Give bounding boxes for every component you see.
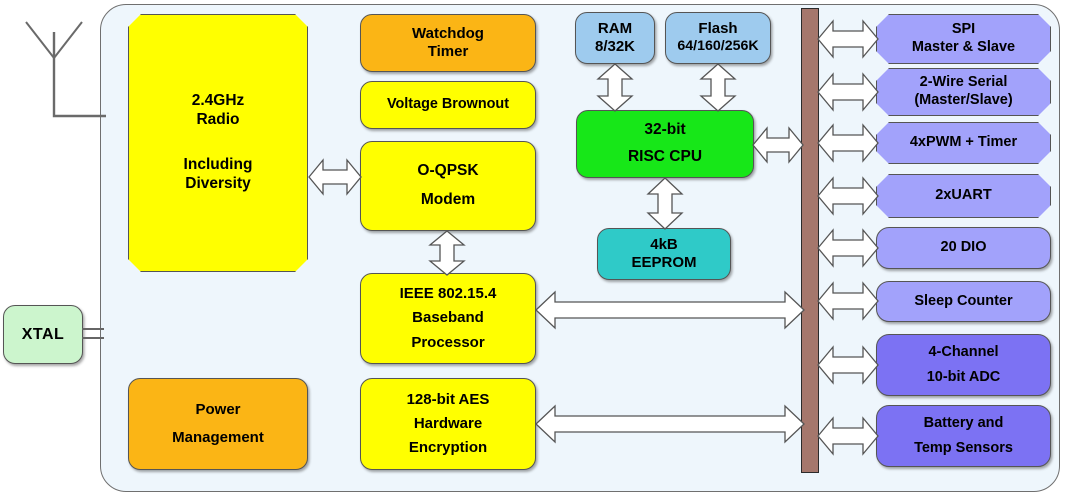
arrow-flash-to-cpu xyxy=(696,63,740,112)
arrow-bus-to-sleep-counter xyxy=(817,280,879,322)
two-wire-serial-block[interactable]: 2-Wire Serial (Master/Slave) xyxy=(876,68,1051,116)
uart-block[interactable]: 2xUART xyxy=(876,174,1051,218)
arrow-bus-to-spi xyxy=(817,18,879,60)
arrow-bus-to-dio xyxy=(817,227,879,269)
block-diagram-canvas: XTAL 2.4GHz Radio Including Diversity Wa… xyxy=(0,0,1080,499)
flash-block[interactable]: Flash 64/160/256K xyxy=(665,12,771,64)
watchdog-timer-block[interactable]: Watchdog Timer xyxy=(360,14,536,72)
xtal-connector-line-upper xyxy=(82,328,104,330)
arrow-bus-to-uart xyxy=(817,175,879,217)
dio-block[interactable]: 20 DIO xyxy=(876,227,1051,269)
power-management-block[interactable]: Power Management xyxy=(128,378,308,470)
radio-block[interactable]: 2.4GHz Radio Including Diversity xyxy=(128,14,308,272)
arrow-bus-to-adc xyxy=(817,344,879,386)
adc-block[interactable]: 4-Channel 10-bit ADC xyxy=(876,334,1051,396)
antenna-icon xyxy=(14,14,106,124)
o-qpsk-modem-block[interactable]: O-QPSK Modem xyxy=(360,141,536,231)
spi-block[interactable]: SPI Master & Slave xyxy=(876,14,1051,64)
arrow-baseband-to-bus xyxy=(535,288,805,332)
pwm-timer-block[interactable]: 4xPWM + Timer xyxy=(876,122,1051,164)
battery-temp-sensors-block[interactable]: Battery and Temp Sensors xyxy=(876,405,1051,467)
voltage-brownout-block[interactable]: Voltage Brownout xyxy=(360,81,536,129)
arrow-modem-to-baseband xyxy=(425,230,469,276)
xtal-connector-line-lower xyxy=(82,337,104,339)
arrow-cpu-to-eeprom xyxy=(643,177,687,230)
arrow-ram-to-cpu xyxy=(593,63,637,112)
xtal-block[interactable]: XTAL xyxy=(3,305,83,364)
arrow-bus-to-pwm-timer xyxy=(817,122,879,164)
arrow-cpu-to-bus xyxy=(752,124,804,166)
sleep-counter-block[interactable]: Sleep Counter xyxy=(876,281,1051,322)
arrow-radio-to-modem xyxy=(308,155,362,199)
baseband-processor-block[interactable]: IEEE 802.15.4 Baseband Processor xyxy=(360,273,536,364)
ram-block[interactable]: RAM 8/32K xyxy=(575,12,655,64)
eeprom-block[interactable]: 4kB EEPROM xyxy=(597,228,731,280)
risc-cpu-block[interactable]: 32-bit RISC CPU xyxy=(576,110,754,178)
arrow-aes-to-bus xyxy=(535,402,805,446)
arrow-bus-to-two-wire xyxy=(817,71,879,113)
arrow-bus-to-sensors xyxy=(817,415,879,457)
aes-encryption-block[interactable]: 128-bit AES Hardware Encryption xyxy=(360,378,536,470)
